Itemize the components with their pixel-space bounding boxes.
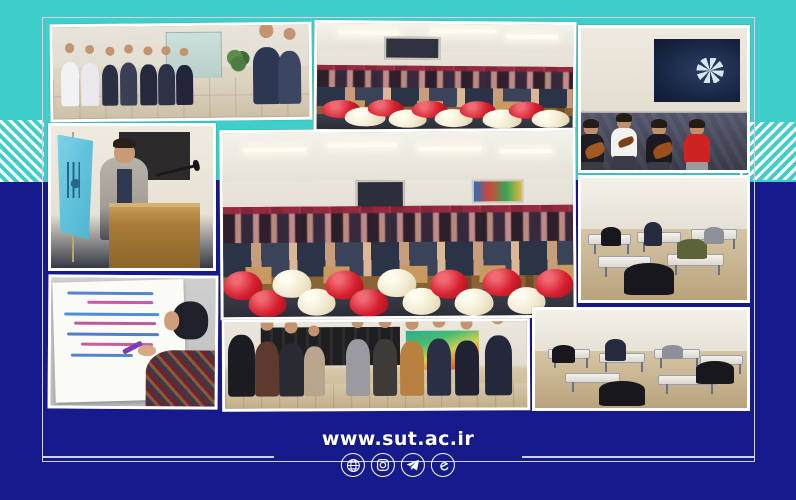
tile-exam-room-lower <box>532 307 750 411</box>
tile-whiteboard-writing <box>48 274 219 409</box>
footer-rule-right <box>522 456 754 458</box>
tile-podium-speaker <box>48 123 216 271</box>
tile-exam-room-upper <box>578 175 750 303</box>
globe-icon[interactable] <box>341 453 365 477</box>
tile-certificate-ceremony <box>49 22 312 123</box>
footer-center: www.sut.ac.ir <box>322 428 474 477</box>
footer-rule-left <box>42 456 274 458</box>
tile-main-auditorium <box>219 128 576 320</box>
footer: www.sut.ac.ir <box>0 412 796 500</box>
banner-root: www.sut.ac.ir <box>0 0 796 500</box>
balloon-garland <box>223 230 574 317</box>
telegram-icon[interactable] <box>401 453 425 477</box>
tile-award-group <box>222 318 530 412</box>
diagonal-stripes-left-icon <box>0 120 44 182</box>
eitaa-icon[interactable] <box>431 453 455 477</box>
event-photo-collage <box>44 19 752 411</box>
balloon-garland <box>317 80 573 131</box>
tile-music-performance <box>578 25 750 173</box>
instagram-icon[interactable] <box>371 453 395 477</box>
site-url[interactable]: www.sut.ac.ir <box>322 428 474 450</box>
tile-audience-tables-balloons <box>314 20 577 134</box>
social-links <box>341 453 455 477</box>
